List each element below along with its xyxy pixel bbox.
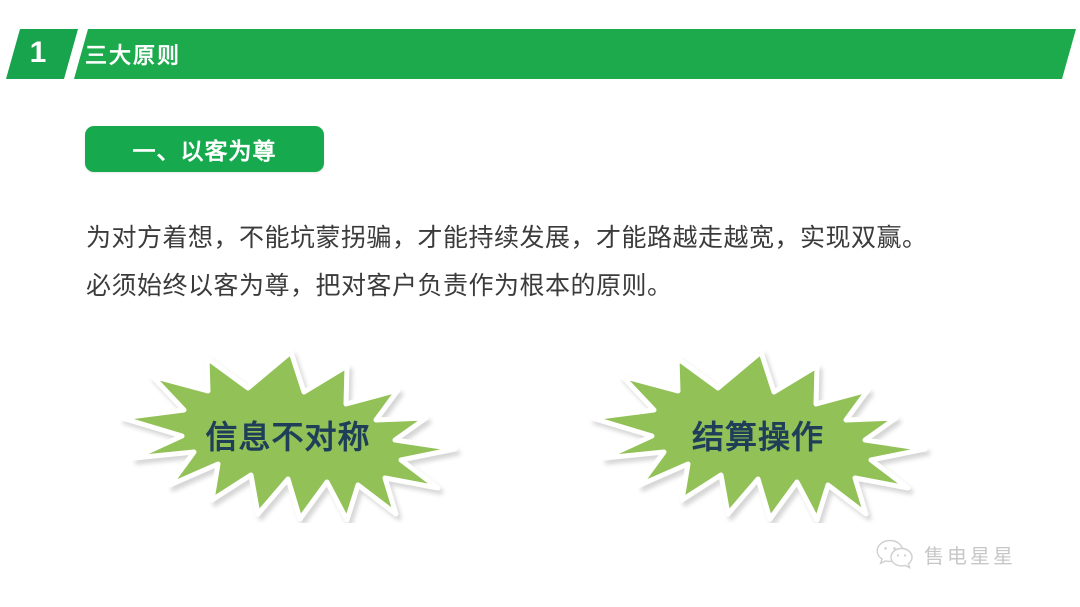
header-number-badge-shape: [6, 29, 78, 79]
header-ribbon: [0, 29, 1080, 79]
starburst-shape-2: 结算操作: [578, 348, 938, 523]
section-label-text: 一、以客为尊: [85, 126, 324, 172]
body-line-2: 必须始终以客为尊，把对客户负责作为根本的原则。: [86, 262, 1016, 310]
body-paragraph: 为对方着想，不能坑蒙拐骗，才能持续发展，才能路越走越宽，实现双赢。 必须始终以客…: [86, 214, 1016, 310]
watermark: 售电星星: [876, 538, 1016, 570]
starburst-1-polygon: [122, 352, 455, 520]
body-line-1: 为对方着想，不能坑蒙拐骗，才能持续发展，才能路越走越宽，实现双赢。: [86, 214, 1016, 262]
section-label-pill: 一、以客为尊: [85, 126, 324, 172]
slide-canvas: 1 三大原则 一、以客为尊 为对方着想，不能坑蒙拐骗，才能持续发展，才能路越走越…: [0, 0, 1080, 607]
watermark-text: 售电星星: [924, 540, 1016, 569]
starburst-2-polygon: [592, 352, 925, 520]
wechat-icon: [876, 538, 916, 570]
header-band-shape: [74, 29, 1076, 79]
starburst-shape-1: 信息不对称: [108, 348, 468, 523]
